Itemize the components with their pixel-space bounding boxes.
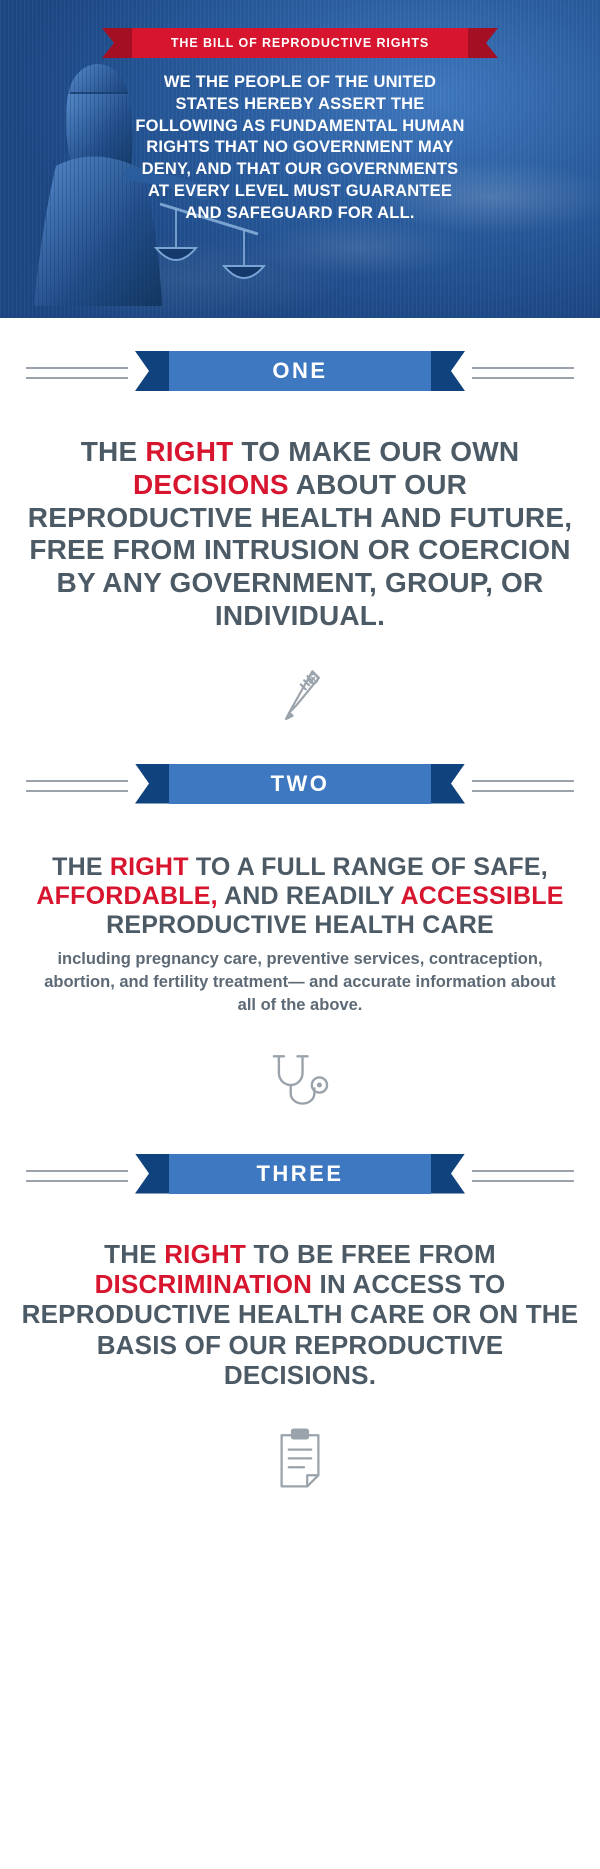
hero-banner-label: THE BILL OF REPRODUCTIVE RIGHTS [171, 36, 429, 50]
ribbon-fold-left-two [135, 764, 169, 804]
headline-accent-word: AFFORDABLE, [36, 882, 217, 910]
hero-paragraph: WE THE PEOPLE OF THE UNITED STATES HEREB… [130, 72, 470, 224]
ribbon-body-two: TWO [169, 764, 431, 804]
ribbon-body-one: ONE [169, 351, 431, 391]
headline-accent-word: DISCRIMINATION [95, 1269, 313, 1299]
headline-text: REPRODUCTIVE HEALTH CARE [106, 911, 494, 939]
banner-body: THE BILL OF REPRODUCTIVE RIGHTS [132, 28, 468, 58]
ribbon-label-two: TWO [271, 771, 330, 797]
headline-text: AND READILY [218, 882, 401, 910]
ribbon-row-two: TWO [0, 761, 600, 807]
ribbon-one: ONE [135, 351, 465, 391]
section-two: TWO THE RIGHT TO A FULL RANGE OF SAFE, A… [0, 761, 600, 1119]
ribbon-fold-right-one [431, 351, 465, 391]
headline-text: THE [52, 853, 110, 881]
rule-left-three [26, 1170, 128, 1182]
headline-text: ABOUT OUR REPRODUCTIVE HEALTH AND FUTURE… [28, 469, 572, 631]
thermometer-icon [0, 663, 600, 729]
ribbon-label-three: THREE [256, 1161, 343, 1187]
ribbon-fold-left-one [135, 351, 169, 391]
headline-text: TO BE FREE FROM [246, 1239, 496, 1269]
clipboard-icon [0, 1425, 600, 1495]
rule-right-one [472, 367, 574, 379]
ribbon-fold-left-three [135, 1154, 169, 1194]
section-three: THREE THE RIGHT TO BE FREE FROM DISCRIMI… [0, 1151, 600, 1495]
ribbon-body-three: THREE [169, 1154, 431, 1194]
headline-accent-word: RIGHT [164, 1239, 246, 1269]
rule-right-three [472, 1170, 574, 1182]
banner-fold-left [102, 28, 132, 58]
headline-accent-word: RIGHT [110, 853, 189, 881]
headline-accent-word: RIGHT [145, 436, 233, 467]
ribbon-fold-right-two [431, 764, 465, 804]
ribbon-fold-right-three [431, 1154, 465, 1194]
infographic-page: THE BILL OF REPRODUCTIVE RIGHTS WE THE P… [0, 0, 600, 1869]
ribbon-three: THREE [135, 1154, 465, 1194]
ribbon-two: TWO [135, 764, 465, 804]
headline-text: THE [81, 436, 146, 467]
hero-section: THE BILL OF REPRODUCTIVE RIGHTS WE THE P… [0, 0, 600, 318]
rule-right-two [472, 780, 574, 792]
headline-accent-word: DECISIONS [133, 469, 289, 500]
subtext-two: including pregnancy care, preventive ser… [0, 948, 600, 1016]
headline-three: THE RIGHT TO BE FREE FROM DISCRIMINATION… [0, 1239, 600, 1391]
banner-fold-right [468, 28, 498, 58]
section-one: ONE THE RIGHT TO MAKE OUR OWN DECISIONS … [0, 348, 600, 729]
ribbon-row-three: THREE [0, 1151, 600, 1197]
headline-text: TO A FULL RANGE OF SAFE, [189, 853, 548, 881]
rule-left-two [26, 780, 128, 792]
rule-left-one [26, 367, 128, 379]
headline-text: TO MAKE OUR OWN [233, 436, 519, 467]
headline-text: THE [104, 1239, 164, 1269]
ribbon-label-one: ONE [272, 358, 327, 384]
headline-two: THE RIGHT TO A FULL RANGE OF SAFE, AFFOR… [0, 853, 600, 941]
ribbon-row-one: ONE [0, 348, 600, 394]
stethoscope-icon [0, 1051, 600, 1119]
hero-banner: THE BILL OF REPRODUCTIVE RIGHTS [102, 28, 498, 58]
headline-accent-word: ACCESSIBLE [400, 882, 563, 910]
headline-one: THE RIGHT TO MAKE OUR OWN DECISIONS ABOU… [0, 436, 600, 633]
